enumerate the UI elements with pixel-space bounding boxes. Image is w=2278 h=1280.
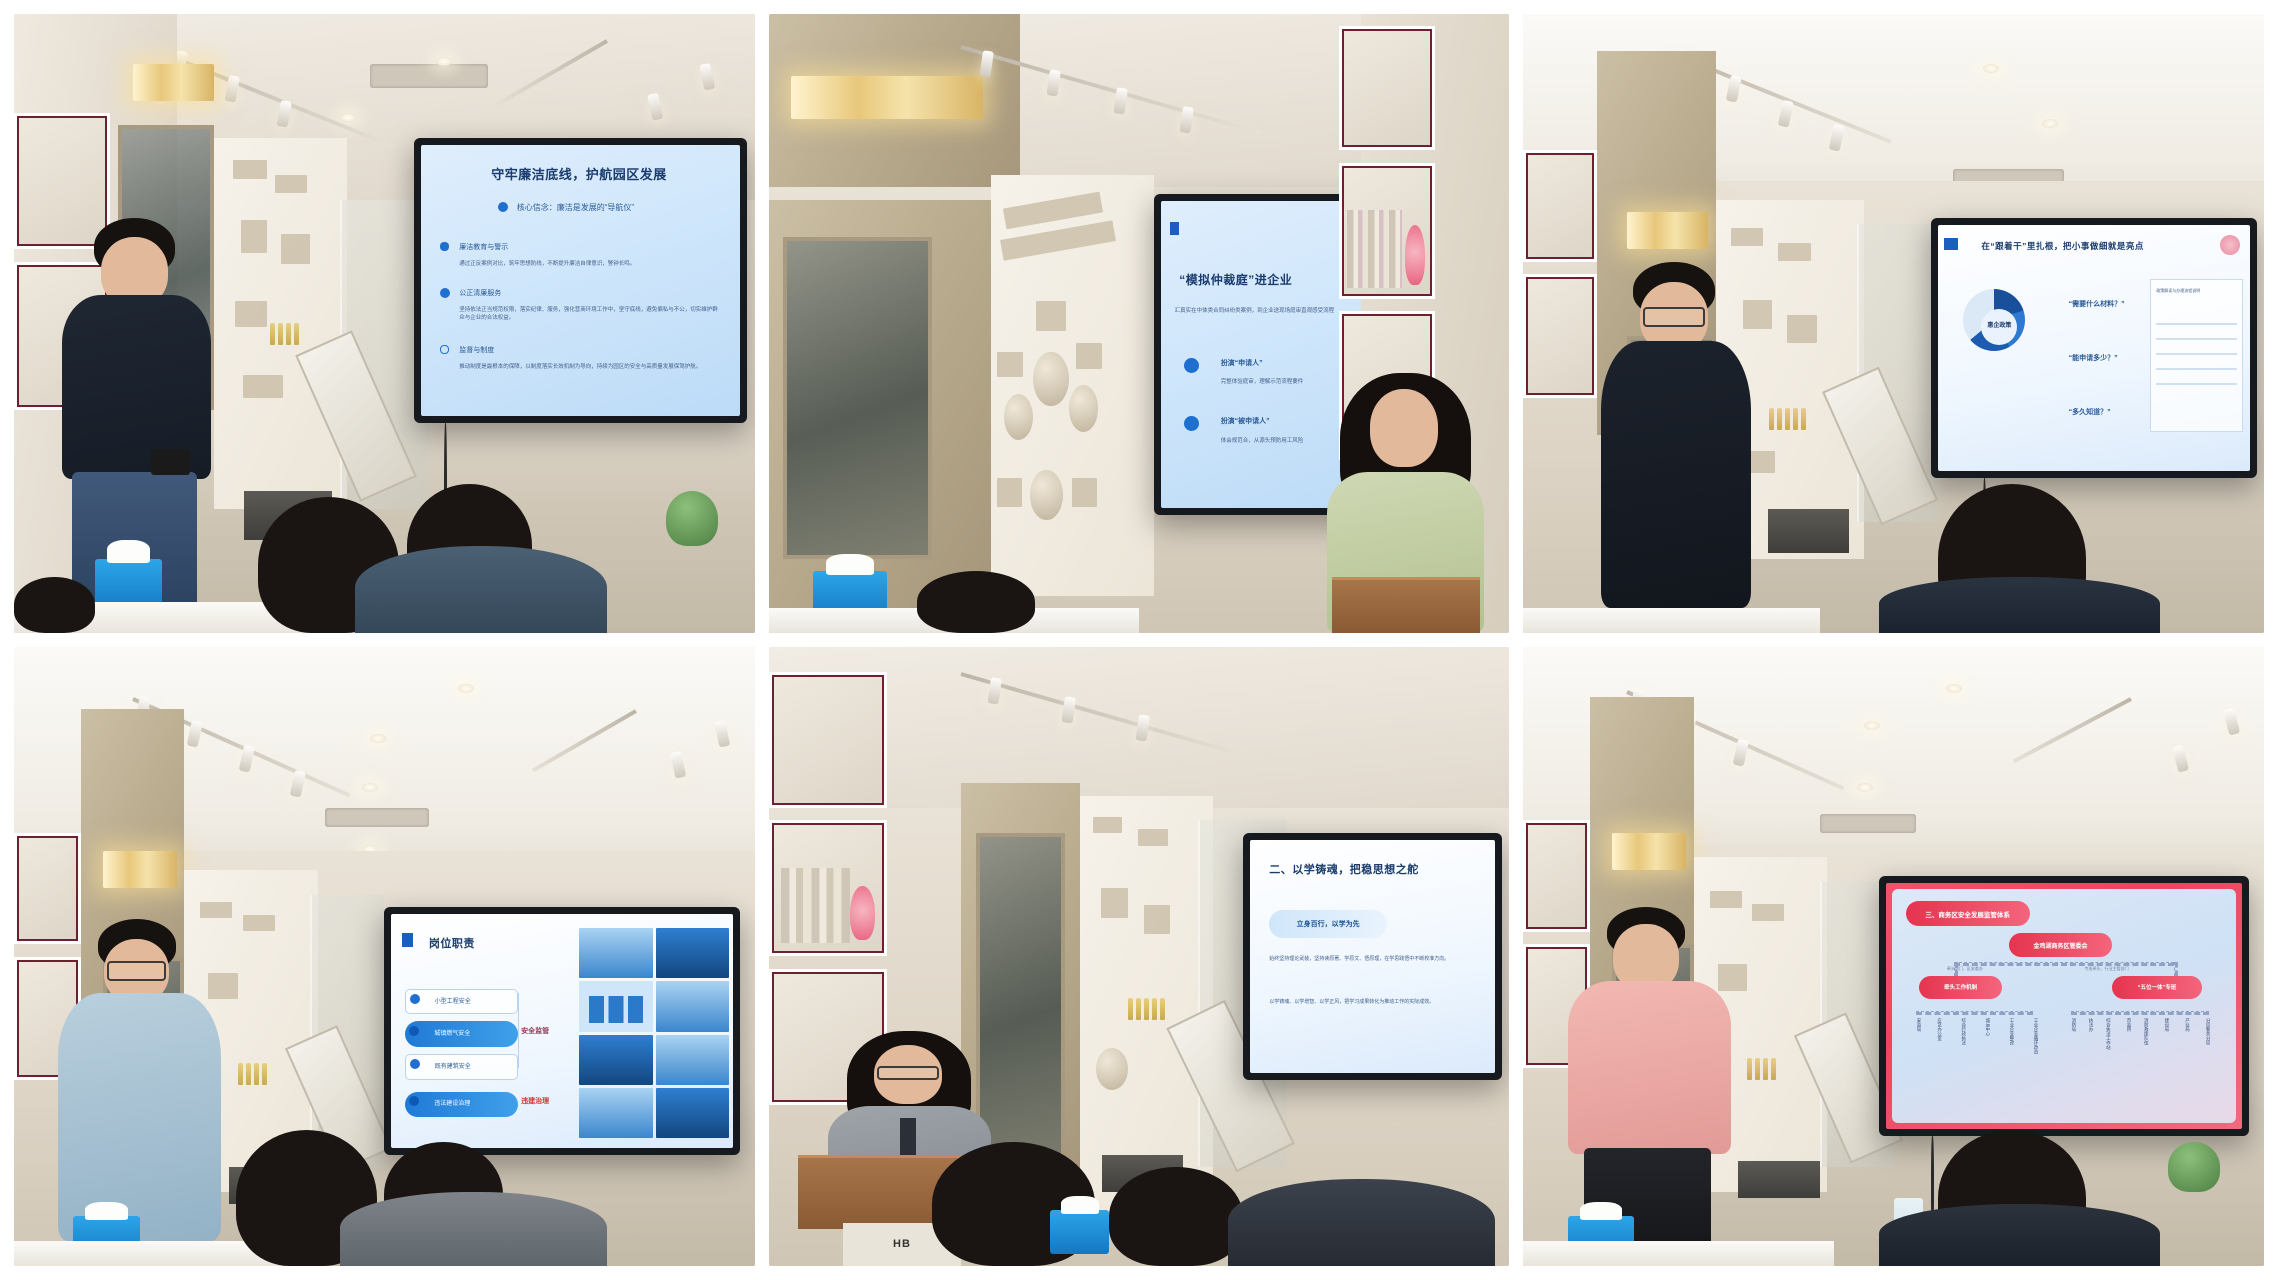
bullet-body: 推动制度是最根本的保障，以制度落实长效机制为导向，持续为园区的安全与高质量发展保… xyxy=(459,364,734,372)
slide-4: 岗位职责 小型工程安全 城镇燃气安全 既有建筑安全 xyxy=(391,914,733,1148)
accent-square xyxy=(1944,238,1958,250)
highlight-chip: 立身百行，以学为先 xyxy=(1269,910,1387,938)
exhibit-circle xyxy=(1033,352,1069,407)
org-leaf: 工业企业整改 xyxy=(2009,1018,2015,1045)
trophy-light xyxy=(1612,833,1686,870)
display-cabinet xyxy=(1523,150,1597,261)
exhibit-card xyxy=(1778,243,1811,261)
branch-caption: 牵头部门、区安委办 xyxy=(1947,966,1983,972)
exhibit-card xyxy=(1076,343,1102,368)
slide-1: 守牢廉洁底线，护航园区发展 核心信念：廉洁是发展的“导航仪” 廉洁教育与警示 通… xyxy=(421,145,740,416)
exhibit-circle xyxy=(1096,1048,1128,1090)
thumbnail xyxy=(579,928,653,978)
face xyxy=(1370,389,1438,467)
slide-core-label: 核心信念：廉洁是发展的“导航仪” xyxy=(517,202,634,213)
org-leaf: 市监所 xyxy=(2126,1018,2132,1032)
screen-content: 三、商务区安全发展监管体系 金鸡湖商务区管委会 牵头工作机制 “五位一体”专班 … xyxy=(1886,883,2242,1129)
screen-content: 二、以学铸魂，把稳思想之舵 立身百行，以学为先 始终坚持理论武装，坚持读原著、学… xyxy=(1250,840,1495,1074)
org-connector xyxy=(2174,962,2178,976)
item-label: 扮演“申请人” xyxy=(1221,358,1263,368)
scales-icon xyxy=(440,288,450,298)
city-thumbnail-grid xyxy=(579,928,729,1138)
eyeglasses-icon xyxy=(1643,307,1705,328)
audience-head xyxy=(1109,1167,1242,1266)
item-desc: 完整体验庭审，理解示范流程要件 xyxy=(1221,379,1304,387)
room-scene-4: 岗位职责 小型工程安全 城镇燃气安全 既有建筑安全 xyxy=(14,647,755,1266)
downlight-icon xyxy=(1983,64,1999,73)
branch-caption: 专班牵头、行业主管部门 xyxy=(2085,966,2129,972)
eyeglasses-icon xyxy=(877,1066,939,1080)
exhibit-wall xyxy=(1080,796,1213,1217)
accent-square xyxy=(1170,222,1179,235)
step-block xyxy=(1768,509,1849,552)
org-root-node: 金鸡湖商务区管委会 xyxy=(2009,933,2112,956)
books-row xyxy=(781,868,851,943)
callout-label: “能申请多少？” xyxy=(2069,353,2118,363)
item-label: 既有建筑安全 xyxy=(435,1061,471,1070)
exhibit-card xyxy=(243,375,283,397)
exhibit-card xyxy=(241,220,268,253)
clicker-remote-icon xyxy=(151,449,190,476)
slide-title: 二、以学铸魂，把稳思想之舵 xyxy=(1269,861,1419,877)
presentation-easel xyxy=(1849,373,1938,546)
exhibit-card xyxy=(235,301,267,327)
responsibility-item-3[interactable]: 既有建筑安全 xyxy=(405,1054,518,1080)
org-leaf: 消防局 xyxy=(2071,1018,2077,1032)
tools-icon xyxy=(409,1096,419,1106)
presenter-person xyxy=(1568,907,1731,1241)
org-leaf: 分局警务分局 xyxy=(2205,1018,2211,1045)
logo-icon xyxy=(2220,235,2240,255)
room-scene-3: 在“跟着干”里扎根，把小事做细就是亮点 惠企政策 “需要什么材料？” “能申请多… xyxy=(1523,14,2264,633)
thumbnail xyxy=(656,981,730,1031)
person-icon xyxy=(1184,358,1199,373)
presentation-screen-6[interactable]: 三、商务区安全发展监管体系 金鸡湖商务区管委会 牵头工作机制 “五位一体”专班 … xyxy=(1879,876,2249,1136)
bullet-icon xyxy=(440,242,449,251)
exhibit-card xyxy=(1036,301,1065,330)
presentation-easel xyxy=(325,336,414,522)
presentation-screen-1[interactable]: 守牢廉洁底线，护航园区发展 核心信念：廉洁是发展的“导航仪” 廉洁教育与警示 通… xyxy=(414,138,747,423)
paragraph: 以学铸魂、以学增智、以学正风，把学习成果转化为推动工作的实际成效。 xyxy=(1269,999,1480,1006)
photo-tile-1[interactable]: 守牢廉洁底线，护航园区发展 核心信念：廉洁是发展的“导航仪” 廉洁教育与警示 通… xyxy=(14,14,755,633)
front-table xyxy=(1523,608,1819,633)
highlight-text: 立身百行，以学为先 xyxy=(1297,919,1360,929)
group-bracket xyxy=(518,993,519,1068)
audience-head xyxy=(14,577,95,633)
photo-tile-3[interactable]: 在“跟着干”里扎根，把小事做细就是亮点 惠企政策 “需要什么材料？” “能申请多… xyxy=(1523,14,2264,633)
compass-icon xyxy=(498,202,508,212)
bookshelf-cabinet xyxy=(769,820,888,956)
exhibit-card xyxy=(233,160,268,179)
exhibit-bottles xyxy=(1747,1058,1776,1080)
group-label: 安全监管 xyxy=(521,1026,549,1036)
award-plaque xyxy=(1405,225,1425,285)
thumbnail xyxy=(656,1035,730,1085)
org-connector xyxy=(2071,1011,2209,1015)
torso-black-polo xyxy=(1601,341,1751,608)
audience-shoulders xyxy=(1879,1204,2160,1266)
slide-3: 在“跟着干”里扎根，把小事做细就是亮点 惠企政策 “需要什么材料？” “能申请多… xyxy=(1938,225,2250,471)
org-leaf: 综合执法工作站 xyxy=(2105,1018,2111,1050)
trophy-light xyxy=(1627,212,1708,249)
ceiling-vent-icon xyxy=(370,64,489,89)
thumbnail xyxy=(579,1088,653,1138)
audience-head xyxy=(917,571,1036,633)
item-desc: 体会规范合，从源头预防用工风险 xyxy=(1221,438,1304,446)
responsibility-item-1[interactable]: 小型工程安全 xyxy=(405,989,518,1015)
building-icon xyxy=(410,1059,420,1069)
ceiling-vent-icon xyxy=(1820,814,1916,833)
exhibit-bottles xyxy=(1769,408,1806,430)
audience-shoulders xyxy=(1879,577,2160,633)
presentation-screen-5[interactable]: 二、以学铸魂，把稳思想之舵 立身百行，以学为先 始终坚持理论武装，坚持读原著、学… xyxy=(1243,833,1502,1081)
award-plaque xyxy=(850,886,875,941)
screen-content: 岗位职责 小型工程安全 城镇燃气安全 既有建筑安全 xyxy=(391,914,733,1148)
item-label: 扮演“被申请人” xyxy=(1221,416,1270,426)
exhibit-card xyxy=(1731,228,1764,246)
org-branch-node: 牵头工作机制 xyxy=(1919,976,2002,999)
exhibit-card xyxy=(997,478,1021,507)
trophy-light xyxy=(133,64,214,101)
org-leaf: 城运中心 xyxy=(1985,1018,1991,1036)
photo-tile-4[interactable]: 岗位职责 小型工程安全 城镇燃气安全 既有建筑安全 xyxy=(14,647,755,1266)
audience-shoulders xyxy=(355,546,607,633)
room-scene-2: 模拟仲裁庭 “模拟仲裁庭”进企业 汇真实在中体类合同纠纷类案例，到企业送现场庭审… xyxy=(769,14,1510,633)
exhibit-circle xyxy=(1004,394,1033,440)
org-connector xyxy=(1916,1011,2033,1015)
org-connector xyxy=(1954,962,2174,966)
org-leaf: 工业企业循环改造 xyxy=(2033,1018,2039,1054)
exhibit-card xyxy=(243,915,275,931)
bullet-body: 通过正反案例对比，筑牢思想防线，不断提升廉洁自律意识，警钟长鸣。 xyxy=(459,261,721,269)
side-panel: 政策解读与办理流程说明 xyxy=(2150,279,2244,432)
org-leaf: 消防救援队伍 xyxy=(2143,1018,2149,1045)
thumbnail xyxy=(579,1035,653,1085)
screen-content: 在“跟着干”里扎根，把小事做细就是亮点 惠企政策 “需要什么材料？” “能申请多… xyxy=(1938,225,2250,471)
room-scene-1: 守牢廉洁底线，护航园区发展 核心信念：廉洁是发展的“导航仪” 廉洁教育与警示 通… xyxy=(14,14,755,633)
slide-title: 在“跟着干”里扎根，把小事做细就是亮点 xyxy=(1981,240,2144,252)
trophy-light xyxy=(103,851,177,888)
exhibit-bottles xyxy=(270,323,299,345)
screen-content: 守牢廉洁底线，护航园区发展 核心信念：廉洁是发展的“导航仪” 廉洁教育与警示 通… xyxy=(421,145,740,416)
org-leaf: 安监局 xyxy=(1916,1018,1922,1032)
donut-center-label: 惠企政策 xyxy=(1981,309,2017,345)
front-table xyxy=(1523,1241,1834,1266)
bullet-heading: 廉洁教育与警示 xyxy=(459,242,508,252)
exhibit-circle xyxy=(1069,385,1098,431)
exhibit-bottles xyxy=(238,1063,267,1085)
photo-grid: 守牢廉洁底线，护航园区发展 核心信念：廉洁是发展的“导航仪” 廉洁教育与警示 通… xyxy=(0,0,2278,1280)
slide-inner-panel: 三、商务区安全发展监管体系 金鸡湖商务区管委会 牵头工作机制 “五位一体”专班 … xyxy=(1892,889,2236,1123)
responsibility-item-2[interactable]: 城镇燃气安全 xyxy=(405,1021,518,1047)
org-leaf: 综合行政执法 xyxy=(1961,1018,1967,1045)
exhibit-circle xyxy=(1030,470,1063,521)
thumbnail xyxy=(579,981,653,1031)
front-table xyxy=(14,1241,281,1266)
exhibit-card xyxy=(1752,904,1784,921)
ceiling-vent-icon xyxy=(325,808,429,827)
exhibit-card xyxy=(1093,817,1122,834)
audience-shoulders xyxy=(1228,1179,1495,1266)
downlight-icon xyxy=(1857,783,1873,792)
bookshelf-cabinet xyxy=(769,672,888,808)
downlight-icon xyxy=(1946,684,1962,693)
accent-square xyxy=(402,933,413,947)
eyeglasses-icon xyxy=(107,961,166,980)
presenter-person xyxy=(58,919,221,1241)
exhibit-card xyxy=(200,902,232,918)
gas-icon xyxy=(409,1026,419,1036)
person-gear-icon xyxy=(1184,416,1199,431)
podium xyxy=(1332,577,1480,633)
responsibility-item-4[interactable]: 违法建设治理 xyxy=(405,1092,518,1118)
slide-title-chip: 三、商务区安全发展监管体系 xyxy=(1906,901,2030,927)
torso-pink-polo xyxy=(1568,981,1731,1155)
presentation-screen-3[interactable]: 在“跟着干”里扎根，把小事做细就是亮点 惠企政策 “需要什么材料？” “能申请多… xyxy=(1931,218,2257,478)
exhibit-card xyxy=(1101,888,1128,917)
glass-window xyxy=(783,237,931,559)
slide-title: 守牢廉洁底线，护航园区发展 xyxy=(491,164,667,183)
bookshelf-cabinet xyxy=(1339,163,1435,299)
exhibit-card xyxy=(281,234,310,264)
audience-shoulders xyxy=(340,1192,607,1266)
photo-tile-2[interactable]: 模拟仲裁庭 “模拟仲裁庭”进企业 汇真实在中体类合同纠纷类案例，到企业送现场庭审… xyxy=(769,14,1510,633)
group-label: 违建治理 xyxy=(521,1096,549,1106)
exhibit-card xyxy=(1072,478,1096,507)
tissue-box xyxy=(1050,1210,1109,1253)
exhibit-card xyxy=(1138,829,1167,846)
downlight-icon xyxy=(370,734,386,743)
side-panel-text: 政策解读与办理流程说明 xyxy=(2156,288,2237,294)
books-row xyxy=(1347,210,1401,288)
exhibit-wall xyxy=(991,175,1154,596)
plant-decor xyxy=(666,491,718,547)
exhibit-card xyxy=(1787,315,1817,344)
org-leaf: 建设局 xyxy=(2164,1018,2170,1032)
bookshelf-cabinet xyxy=(1339,26,1435,150)
item-label: 小型工程安全 xyxy=(435,996,471,1005)
bullet-body: 坚持依法正当规范权限，落实纪律、服务，强化营商环境工作中，坚守底线，避免偏私与不… xyxy=(459,307,721,323)
org-leaf: 执法办 xyxy=(2088,1018,2094,1032)
slide-5: 二、以学铸魂，把稳思想之舵 立身百行，以学为先 始终坚持理论武装，坚持读原著、学… xyxy=(1250,840,1495,1074)
step-block xyxy=(1738,1161,1819,1198)
gold-wall-plaque xyxy=(791,76,984,119)
chart-icon xyxy=(440,345,449,354)
torso-lightblue-shirt xyxy=(58,993,221,1241)
slide-title: 岗位职责 xyxy=(429,935,475,951)
exhibit-card xyxy=(275,175,307,194)
plant-decor xyxy=(2168,1142,2220,1192)
thumbnail xyxy=(656,1088,730,1138)
downlight-icon xyxy=(340,113,356,122)
paragraph: 始终坚持理论武装，坚持读原著、学原文、悟原理，在学思践悟中不断校准方向。 xyxy=(1269,956,1480,963)
bullet-heading: 监督与制度 xyxy=(459,345,494,355)
item-label: 城镇燃气安全 xyxy=(434,1028,470,1037)
exhibit-card xyxy=(1144,905,1171,934)
slide-6: 三、商务区安全发展监管体系 金鸡湖商务区管委会 牵头工作机制 “五位一体”专班 … xyxy=(1886,883,2242,1129)
org-leaf: 产业局 xyxy=(2185,1018,2191,1032)
photo-tile-5[interactable]: 二、以学铸魂，把稳思想之舵 立身百行，以学为先 始终坚持理论武装，坚持读原著、学… xyxy=(769,647,1510,1266)
display-cabinet xyxy=(1523,274,1597,398)
org-leaf: 应急办公室 xyxy=(1937,1018,1943,1041)
thumbnail xyxy=(656,928,730,978)
bullet-heading: 公正清廉服务 xyxy=(459,288,501,298)
callout-label: “多久知道？” xyxy=(2069,407,2111,417)
item-label: 违法建设治理 xyxy=(434,1098,470,1107)
exhibit-card xyxy=(1710,891,1742,908)
exhibit-card xyxy=(997,352,1023,377)
slide-subtitle: “模拟仲裁庭”进企业 xyxy=(1179,271,1292,288)
room-scene-6: 三、商务区安全发展监管体系 金鸡湖商务区管委会 牵头工作机制 “五位一体”专班 … xyxy=(1523,647,2264,1266)
callout-label: “需要什么材料？” xyxy=(2069,299,2125,309)
photo-tile-6[interactable]: 三、商务区安全发展监管体系 金鸡湖商务区管委会 牵头工作机制 “五位一体”专班 … xyxy=(1523,647,2264,1266)
room-scene-5: 二、以学铸魂，把稳思想之舵 立身百行，以学为先 始终坚持理论武装，坚持读原著、学… xyxy=(769,647,1510,1266)
exhibit-bottles xyxy=(1128,998,1165,1020)
presentation-screen-4[interactable]: 岗位职责 小型工程安全 城镇燃气安全 既有建筑安全 xyxy=(384,907,740,1155)
presenter-person xyxy=(1597,262,1760,609)
hardhat-icon xyxy=(410,994,420,1004)
org-branch-node: “五位一体”专班 xyxy=(2112,976,2202,999)
